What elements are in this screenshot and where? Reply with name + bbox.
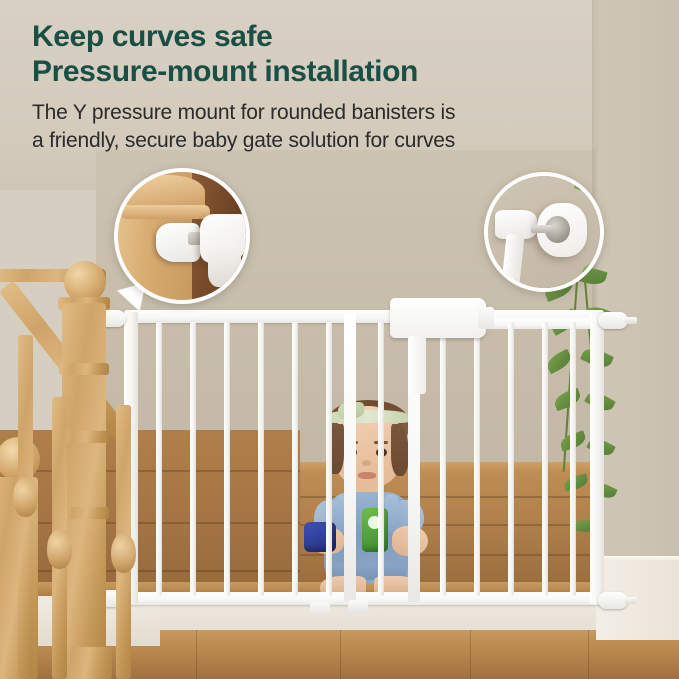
gate-foot-a [310, 602, 330, 615]
subheadline: The Y pressure mount for rounded baniste… [32, 99, 652, 155]
gate-bar [570, 322, 576, 596]
spindle [18, 335, 33, 679]
subheadline-line-2: a friendly, secure baby gate solution fo… [32, 127, 652, 155]
subheadline-line-1: The Y pressure mount for rounded baniste… [32, 99, 652, 127]
gate-bar [292, 322, 298, 596]
product-image: Keep curves safe Pressure-mount installa… [0, 0, 679, 679]
spindle [52, 397, 67, 679]
gate-bar [258, 322, 264, 596]
gate-frame-right [590, 312, 604, 604]
gate-latch-handle[interactable] [390, 298, 486, 338]
gate-bar [190, 322, 196, 596]
callout-gate-arm-lower [208, 241, 241, 287]
right-callout-wall-pressure-pad [484, 172, 604, 292]
callout-post-rim [121, 205, 211, 219]
gate-bar [378, 322, 384, 596]
pressure-knob-top-right[interactable] [598, 312, 628, 329]
headline: Keep curves safe Pressure-mount installa… [32, 20, 652, 90]
latch-button[interactable] [478, 307, 494, 329]
gate-bar [542, 322, 548, 596]
gate-bar [508, 322, 514, 596]
gate-bar [474, 322, 480, 596]
left-callout-banister-y-mount [114, 168, 250, 304]
newel-collar-1 [59, 363, 109, 375]
gate-foot-b [348, 600, 368, 613]
gate-bar [326, 322, 332, 596]
spindle [116, 405, 131, 679]
callout-threaded-screw [531, 225, 553, 233]
header-text-block: Keep curves safe Pressure-mount installa… [32, 20, 652, 154]
wooden-stair-banister [0, 255, 190, 679]
gate-bar [440, 322, 446, 596]
latch-stem [408, 336, 426, 394]
gate-center-post-a [344, 314, 356, 602]
headline-line-2: Pressure-mount installation [32, 55, 652, 90]
newel-post [62, 303, 106, 679]
pressure-knob-bottom-right[interactable] [598, 592, 628, 609]
headline-line-1: Keep curves safe [32, 20, 272, 53]
gate-bar [224, 322, 230, 596]
